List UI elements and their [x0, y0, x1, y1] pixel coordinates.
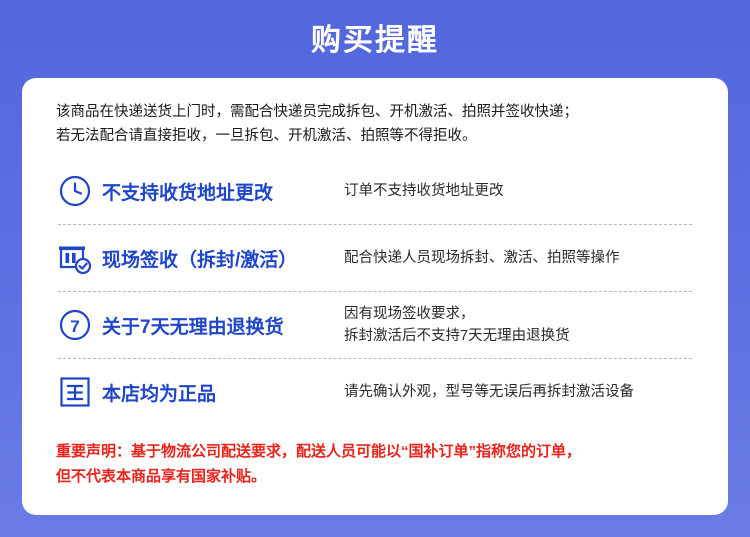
list-item-desc: 配合快递人员现场拆封、激活、拍照等操作 — [340, 247, 620, 269]
intro-text: 该商品在快递送货上门时，需配合快递员完成拆包、开机激活、拍照并签收快递； 若无法… — [56, 100, 702, 148]
list-item-heading: 现场签收（拆封/激活） — [98, 245, 340, 272]
notice-line-1: 重要声明：基于物流公司配送要求，配送人员可能以“国补订单”指称您的订单， — [56, 443, 581, 460]
package-check-icon — [52, 241, 98, 275]
svg-text:7: 7 — [70, 317, 79, 336]
list-item: 本店均为正品 请先确认外观，型号等无误后再拆封激活设备 — [52, 359, 698, 425]
list-item-desc-line-1: 请先确认外观，型号等无误后再拆封激活设备 — [344, 381, 634, 403]
list-item-desc: 订单不支持收货地址更改 — [340, 180, 504, 202]
list-item: 不支持收货地址更改 订单不支持收货地址更改 — [52, 158, 698, 224]
genuine-icon — [52, 375, 98, 409]
page-title: 购买提醒 — [0, 0, 750, 61]
list-item-desc: 因有现场签收要求， 拆封激活后不支持7天无理由退换货 — [340, 303, 570, 347]
list-item-heading: 关于7天无理由退换货 — [98, 312, 340, 339]
clock-icon — [52, 174, 98, 208]
reminder-rows: 不支持收货地址更改 订单不支持收货地址更改 — [52, 158, 698, 425]
list-item-desc-line-1: 配合快递人员现场拆封、激活、拍照等操作 — [344, 247, 620, 269]
list-item: 7 关于7天无理由退换货 因有现场签收要求， 拆封激活后不支持7天无理由退换货 — [52, 292, 698, 358]
list-item-desc-line-1: 因有现场签收要求， — [344, 303, 570, 325]
intro-line-1: 该商品在快递送货上门时，需配合快递员完成拆包、开机激活、拍照并签收快递； — [56, 100, 702, 124]
notice-line-2: 但不代表本商品享有国家补贴。 — [56, 464, 696, 489]
list-item-desc: 请先确认外观，型号等无误后再拆封激活设备 — [340, 381, 634, 403]
list-item: 现场签收（拆封/激活） 配合快递人员现场拆封、激活、拍照等操作 — [52, 225, 698, 291]
list-item-heading: 本店均为正品 — [98, 379, 340, 406]
list-item-heading: 不支持收货地址更改 — [98, 178, 340, 205]
list-item-desc-line-2: 拆封激活后不支持7天无理由退换货 — [344, 325, 570, 347]
seven-day-icon: 7 — [52, 308, 98, 342]
reminder-card: 该商品在快递送货上门时，需配合快递员完成拆包、开机激活、拍照并签收快递； 若无法… — [22, 78, 728, 515]
purchase-reminder-poster: 购买提醒 该商品在快递送货上门时，需配合快递员完成拆包、开机激活、拍照并签收快递… — [0, 0, 750, 537]
important-notice: 重要声明：基于物流公司配送要求，配送人员可能以“国补订单”指称您的订单， 但不代… — [56, 439, 696, 489]
intro-line-2: 若无法配合请直接拒收，一旦拆包、开机激活、拍照等不得拒收。 — [56, 124, 702, 148]
list-item-desc-line-1: 订单不支持收货地址更改 — [344, 180, 504, 202]
